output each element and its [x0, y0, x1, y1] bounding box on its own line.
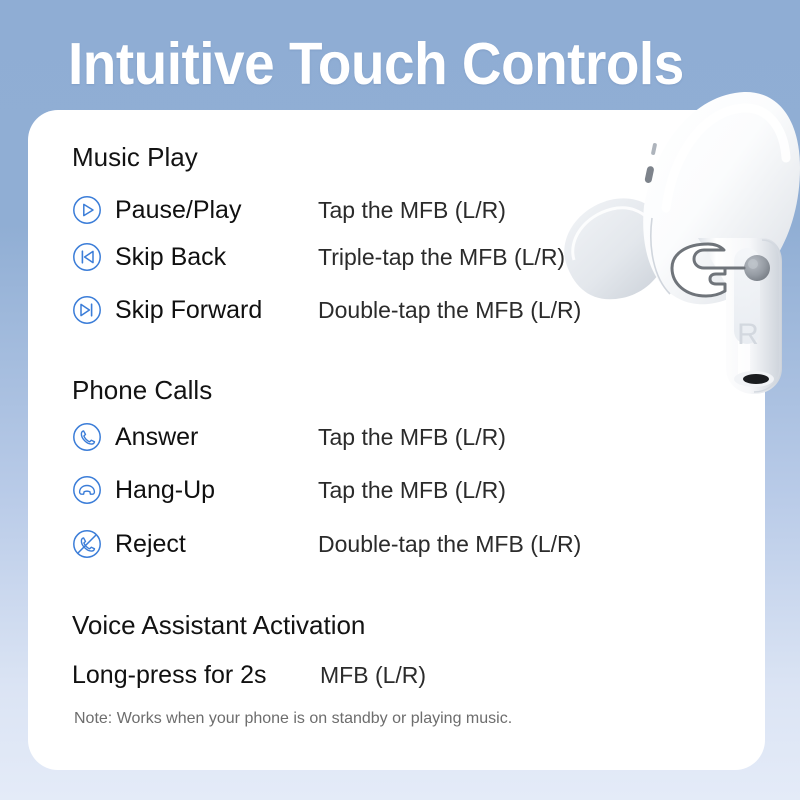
- control-action: Double-tap the MFB (L/R): [318, 296, 581, 324]
- control-label: Skip Forward: [115, 295, 262, 325]
- control-row-answer: Answer Tap the MFB (L/R): [72, 415, 198, 459]
- control-row-pause-play: Pause/Play Tap the MFB (L/R): [72, 188, 241, 232]
- phone-answer-circle-icon: [72, 422, 102, 452]
- section-title-music-play: Music Play: [72, 142, 198, 172]
- section-title-voice-assistant: Voice Assistant Activation: [72, 610, 365, 640]
- control-row-skip-back: Skip Back Triple-tap the MFB (L/R): [72, 235, 226, 279]
- page-title: Intuitive Touch Controls: [68, 30, 684, 98]
- skip-back-circle-icon: [72, 242, 102, 272]
- play-circle-icon: [72, 195, 102, 225]
- control-row-reject: Reject Double-tap the MFB (L/R): [72, 522, 186, 566]
- phone-hangup-circle-icon: [72, 475, 102, 505]
- control-label: Answer: [115, 422, 198, 452]
- skip-forward-circle-icon: [72, 295, 102, 325]
- footnote: Note: Works when your phone is on standb…: [74, 708, 512, 730]
- control-label: Hang-Up: [115, 475, 215, 505]
- control-label: Long-press for 2s: [72, 660, 267, 690]
- control-action: Triple-tap the MFB (L/R): [318, 243, 565, 271]
- poster-page: Intuitive Touch Controls Music Play Paus…: [0, 0, 800, 800]
- control-row-hang-up: Hang-Up Tap the MFB (L/R): [72, 468, 215, 512]
- control-row-skip-forward: Skip Forward Double-tap the MFB (L/R): [72, 288, 262, 332]
- section-title-phone-calls: Phone Calls: [72, 375, 212, 405]
- control-action: Tap the MFB (L/R): [318, 196, 506, 224]
- control-action: Tap the MFB (L/R): [318, 423, 506, 451]
- control-label: Pause/Play: [115, 195, 241, 225]
- control-label: Skip Back: [115, 242, 226, 272]
- control-label: Reject: [115, 529, 186, 559]
- control-action: MFB (L/R): [320, 661, 426, 689]
- control-action: Tap the MFB (L/R): [318, 476, 506, 504]
- control-action: Double-tap the MFB (L/R): [318, 530, 581, 558]
- control-row-voice-assistant: Long-press for 2s MFB (L/R): [72, 655, 267, 695]
- phone-reject-circle-icon: [72, 529, 102, 559]
